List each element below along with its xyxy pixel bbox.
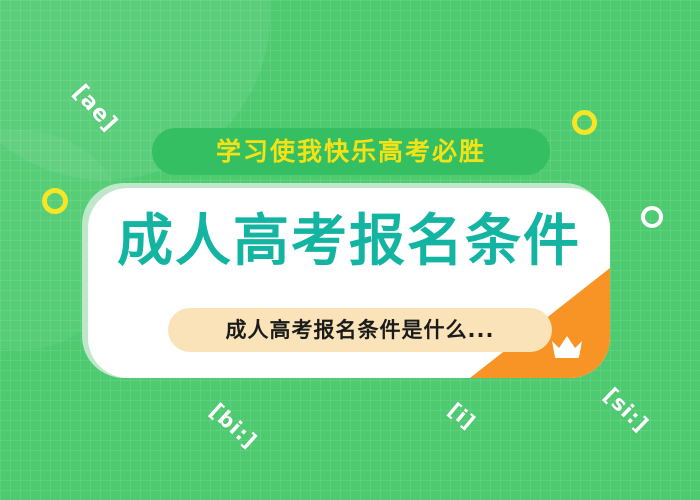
slogan-banner: 学习使我快乐高考必胜 xyxy=(152,128,550,175)
main-title: 成人高考报名条件 xyxy=(88,214,610,270)
crown-icon xyxy=(550,334,584,360)
decorative-ring-white-right xyxy=(641,206,663,228)
subtitle-text: 成人高考报名条件是什么... xyxy=(226,320,495,341)
poster-canvas: [ae] [bi:] [i] [si:] 学习使我快乐高考必胜 成人高考报名条件… xyxy=(0,0,700,500)
subtitle-pill: 成人高考报名条件是什么... xyxy=(168,308,552,352)
slogan-banner-text: 学习使我快乐高考必胜 xyxy=(216,139,486,164)
decorative-ring-yellow-left xyxy=(42,188,68,214)
decorative-ring-yellow-right xyxy=(572,110,597,135)
